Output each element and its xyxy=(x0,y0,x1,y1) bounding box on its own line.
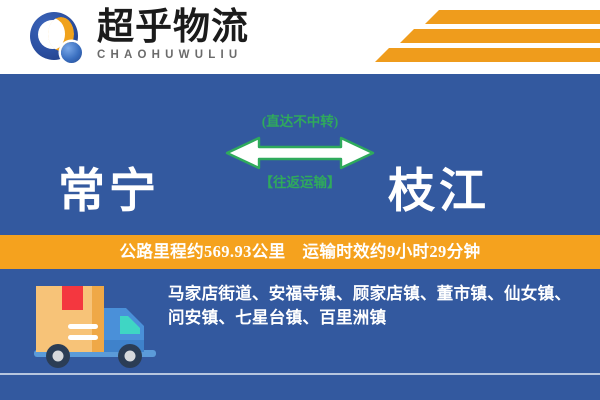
brand-name-cn: 超乎物流 xyxy=(97,8,267,48)
distance-duration-text: 公路里程约569.93公里 运输时效约9小时29分钟 xyxy=(119,242,480,262)
direct-service-label: (直达不中转) xyxy=(218,114,382,130)
coverage-panel: 马家店街道、安福寺镇、顾家店镇、董市镇、仙女镇、问安镇、七星台镇、百里洲镇 xyxy=(0,272,600,400)
stripe-icon-2 xyxy=(400,29,600,43)
stripe-icon-3 xyxy=(375,48,600,62)
route-panel: 常宁 (直达不中转) 【往返运输】 枝江 xyxy=(0,74,600,232)
decorative-stripes xyxy=(310,8,600,66)
header: 超乎物流 CHAOHUWULIU xyxy=(0,0,600,74)
stripe-icon-1 xyxy=(425,10,600,24)
origin-city: 常宁 xyxy=(58,166,160,218)
logo-sphere-shape xyxy=(61,42,82,63)
destination-city: 枝江 xyxy=(388,166,490,218)
bottom-divider xyxy=(0,373,600,375)
info-bar: 公路里程约569.93公里 运输时效约9小时29分钟 xyxy=(0,235,600,269)
route-arrow-block: (直达不中转) 【往返运输】 xyxy=(218,114,382,214)
logistics-route-banner: 超乎物流 CHAOHUWULIU 常宁 (直达不中转) 【往返运输】 枝江 公路… xyxy=(0,0,600,400)
covered-towns-text: 马家店街道、安福寺镇、顾家店镇、董市镇、仙女镇、问安镇、七星台镇、百里洲镇 xyxy=(168,282,586,330)
company-logo-icon xyxy=(28,10,90,66)
roundtrip-label: 【往返运输】 xyxy=(218,175,382,191)
bidirectional-arrow-icon xyxy=(225,136,375,170)
brand-name-en: CHAOHUWULIU xyxy=(97,49,267,62)
brand-block: 超乎物流 CHAOHUWULIU xyxy=(97,8,267,62)
info-bar-wrapper: 公路里程约569.93公里 运输时效约9小时29分钟 xyxy=(0,232,600,272)
delivery-truck-icon xyxy=(28,280,164,376)
